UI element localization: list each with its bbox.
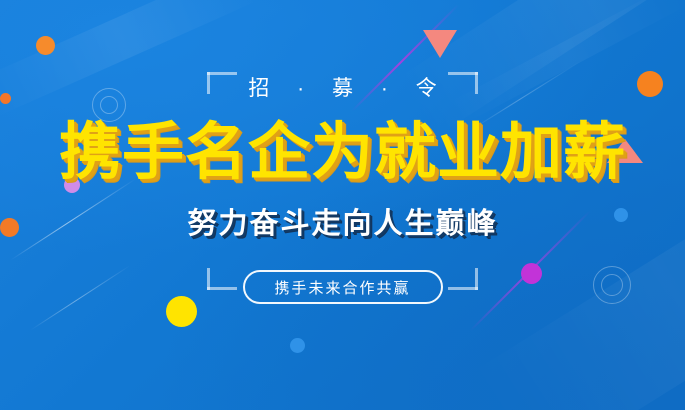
cta-wrapper: 携手未来合作共赢 (0, 270, 685, 304)
headline-title: 携手名企为就业加薪 (0, 118, 685, 188)
blue-dot-bottom-left (290, 338, 305, 353)
pink-triangle-down (423, 30, 457, 58)
eyebrow-text: 招 · 募 · 令 (0, 72, 685, 102)
cta-button[interactable]: 携手未来合作共赢 (243, 270, 443, 304)
orange-dot-top-left (36, 36, 55, 55)
subheadline: 努力奋斗走向人生巅峰 (0, 205, 685, 243)
recruitment-banner: 招 · 募 · 令 携手名企为就业加薪 努力奋斗走向人生巅峰 携手未来合作共赢 (0, 0, 685, 410)
